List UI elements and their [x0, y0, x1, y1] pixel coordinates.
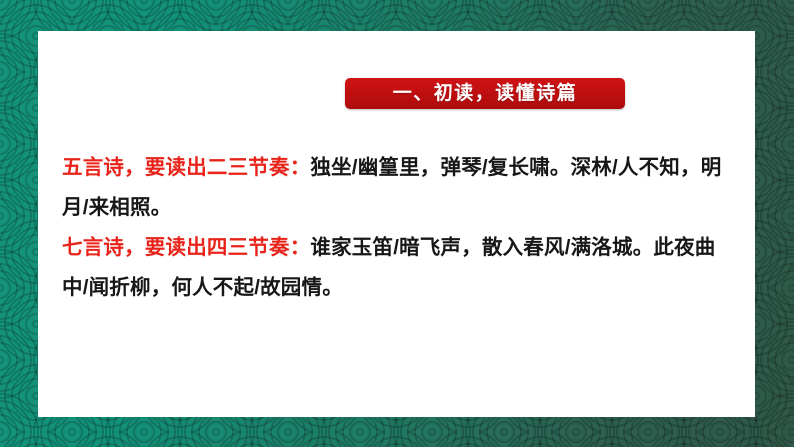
paragraph-five-character-poem: 五言诗，要读出二三节奏：独坐/幽篁里，弹琴/复长啸。深林/人不知，明月/来相照。: [62, 148, 734, 228]
body-text-block: 五言诗，要读出二三节奏：独坐/幽篁里，弹琴/复长啸。深林/人不知，明月/来相照。…: [62, 148, 734, 308]
content-card: 一、初读，读懂诗篇 五言诗，要读出二三节奏：独坐/幽篁里，弹琴/复长啸。深林/人…: [38, 31, 755, 417]
paragraph-1-lead: 五言诗，要读出二三节奏：: [62, 156, 310, 179]
slide-canvas: 一、初读，读懂诗篇 五言诗，要读出二三节奏：独坐/幽篁里，弹琴/复长啸。深林/人…: [0, 0, 794, 447]
section-title-text: 一、初读，读懂诗篇: [393, 84, 578, 103]
paragraph-2-lead: 七言诗，要读出四三节奏：: [62, 236, 310, 259]
paragraph-seven-character-poem: 七言诗，要读出四三节奏：谁家玉笛/暗飞声，散入春风/满洛城。此夜曲中/闻折柳，何…: [62, 228, 734, 308]
section-title-banner: 一、初读，读懂诗篇: [345, 78, 625, 109]
